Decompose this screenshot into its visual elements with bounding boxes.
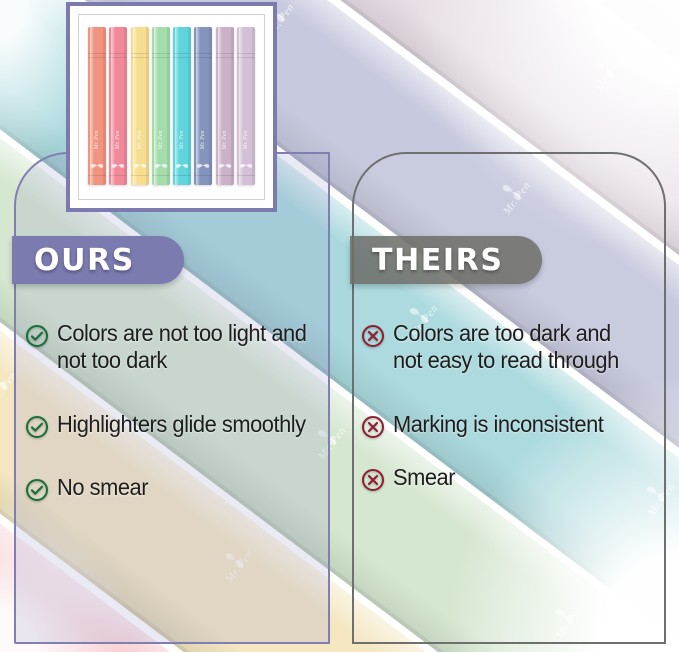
- pen-seam: [131, 57, 149, 58]
- pen-seam: [237, 53, 255, 54]
- pen-highlight: [239, 27, 243, 185]
- pen-edge: [231, 27, 234, 185]
- feature-item: Colors are too dark and not easy to read…: [362, 320, 662, 375]
- mustache-icon: [176, 163, 189, 169]
- feature-list-theirs: Colors are too dark and not easy to read…: [362, 320, 662, 513]
- feature-text: Smear: [393, 464, 455, 491]
- mustache-icon: [133, 163, 146, 169]
- pen-seam: [194, 57, 212, 58]
- pen-seam: [194, 53, 212, 54]
- pen-seam: [216, 175, 234, 176]
- pen-seam: [152, 175, 170, 176]
- pen-highlight: [111, 27, 115, 185]
- feature-text: Highlighters glide smoothly: [57, 411, 306, 438]
- pen-highlight: [196, 27, 200, 185]
- pen-highlight: [133, 27, 137, 185]
- check-circle-icon: [26, 479, 48, 501]
- check-circle-icon: [26, 325, 48, 347]
- check-glyph: [28, 481, 46, 499]
- pen-brand-text: Mr. Pen: [94, 131, 100, 150]
- check-glyph: [28, 327, 46, 345]
- pen-edge: [124, 27, 127, 185]
- feature-text: No smear: [57, 474, 148, 501]
- pen-seam: [88, 175, 106, 176]
- highlighter-pen: Mr. Pen: [88, 27, 106, 185]
- highlighter-pen: Mr. Pen: [216, 27, 234, 185]
- pen-brand-text: Mr. Pen: [158, 131, 164, 150]
- highlighter-pen: Mr. Pen: [152, 27, 170, 185]
- x-circle-icon: [362, 416, 384, 438]
- pen-brand-text: Mr. Pen: [200, 131, 206, 150]
- x-circle-icon: [362, 469, 384, 491]
- pen-edge: [252, 27, 255, 185]
- feature-item: Colors are not too light and not too dar…: [26, 320, 326, 375]
- pen-edge: [188, 27, 191, 185]
- pen-edge: [103, 27, 106, 185]
- pen-highlight: [154, 27, 158, 185]
- mustache-icon: [197, 163, 210, 169]
- pen-seam: [173, 53, 191, 54]
- pen-seam: [131, 53, 149, 54]
- highlighter-pen: Mr. Pen: [173, 27, 191, 185]
- mustache-icon: [91, 163, 104, 169]
- comparison-infographic: Mr. PenMr. PenMr. PenMr. PenMr. PenMr. P…: [0, 0, 679, 652]
- highlighter-pen: Mr. Pen: [131, 27, 149, 185]
- cross-glyph: [364, 327, 382, 345]
- pen-highlight: [175, 27, 179, 185]
- pen-seam: [109, 53, 127, 54]
- pen-seam: [152, 57, 170, 58]
- pen-seam: [237, 57, 255, 58]
- feature-text: Marking is inconsistent: [393, 411, 603, 438]
- cross-glyph: [364, 471, 382, 489]
- pen-seam: [131, 175, 149, 176]
- product-photo-inset: Mr. PenMr. PenMr. PenMr. PenMr. PenMr. P…: [66, 2, 277, 212]
- pen-seam: [173, 57, 191, 58]
- highlighter-pen: Mr. Pen: [109, 27, 127, 185]
- mustache-icon: [218, 163, 231, 169]
- pen-seam: [216, 57, 234, 58]
- feature-item: Marking is inconsistent: [362, 411, 662, 438]
- feature-text: Colors are too dark and not easy to read…: [393, 320, 643, 375]
- pen-seam: [173, 175, 191, 176]
- pen-brand-text: Mr. Pen: [243, 131, 249, 150]
- badge-theirs: THEIRS: [350, 236, 542, 284]
- inset-frame: Mr. PenMr. PenMr. PenMr. PenMr. PenMr. P…: [78, 14, 265, 200]
- pen-edge: [167, 27, 170, 185]
- pen-brand-text: Mr. Pen: [137, 131, 143, 150]
- badge-ours: OURS: [12, 236, 184, 284]
- pen-seam: [237, 175, 255, 176]
- highlighter-pen: Mr. Pen: [194, 27, 212, 185]
- pen-edge: [209, 27, 212, 185]
- pen-seam: [216, 53, 234, 54]
- highlighter-pen: Mr. Pen: [237, 27, 255, 185]
- pen-seam: [152, 53, 170, 54]
- pen-edge: [146, 27, 149, 185]
- check-circle-icon: [26, 416, 48, 438]
- check-glyph: [28, 418, 46, 436]
- pen-highlight: [218, 27, 222, 185]
- pen-seam: [88, 53, 106, 54]
- feature-text: Colors are not too light and not too dar…: [57, 320, 307, 375]
- feature-item: Smear: [362, 464, 662, 491]
- mustache-icon: [112, 163, 125, 169]
- mustache-icon: [239, 163, 252, 169]
- mustache-icon: [154, 163, 167, 169]
- feature-item: No smear: [26, 474, 326, 501]
- pen-seam: [194, 175, 212, 176]
- pen-brand-text: Mr. Pen: [222, 131, 228, 150]
- pen-seam: [88, 57, 106, 58]
- pen-seam: [109, 175, 127, 176]
- x-circle-icon: [362, 325, 384, 347]
- feature-item: Highlighters glide smoothly: [26, 411, 326, 438]
- cross-glyph: [364, 418, 382, 436]
- pen-brand-text: Mr. Pen: [179, 131, 185, 150]
- pen-seam: [109, 57, 127, 58]
- pen-highlight: [90, 27, 94, 185]
- feature-list-ours: Colors are not too light and not too dar…: [26, 320, 326, 523]
- pen-brand-text: Mr. Pen: [115, 131, 121, 150]
